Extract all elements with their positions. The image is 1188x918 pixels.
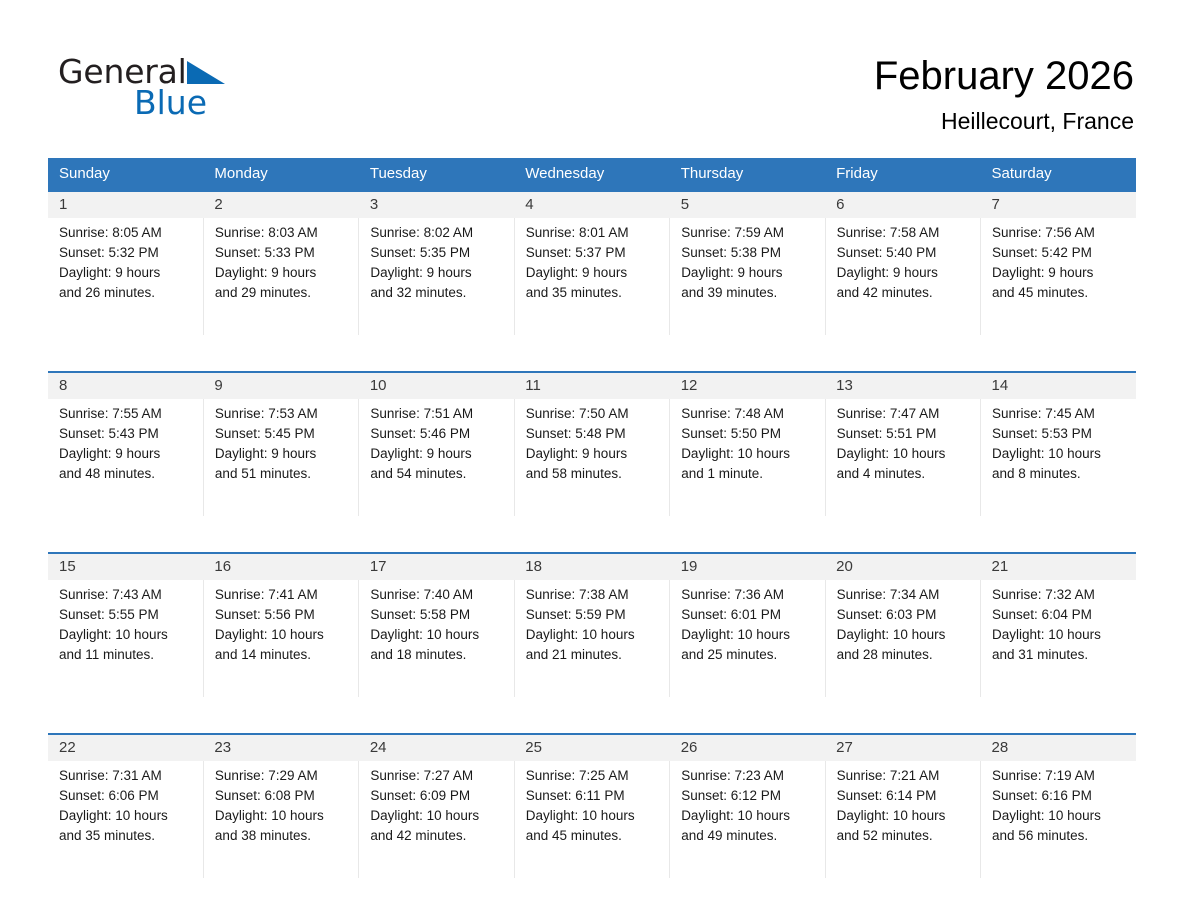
sunset-text: Sunset: 6:04 PM	[992, 605, 1128, 625]
sunrise-text: Sunrise: 7:34 AM	[837, 585, 972, 605]
sunrise-text: Sunrise: 7:51 AM	[370, 404, 505, 424]
sunrise-text: Sunrise: 7:21 AM	[837, 766, 972, 786]
weekday-header-wednesday: Wednesday	[514, 158, 669, 191]
sunrise-text: Sunrise: 7:38 AM	[526, 585, 661, 605]
day-number[interactable]: 16	[203, 553, 358, 580]
daylight-text-line2: and 45 minutes.	[992, 283, 1128, 303]
sunset-text: Sunset: 6:08 PM	[215, 786, 350, 806]
daylight-text-line1: Daylight: 10 hours	[59, 625, 195, 645]
daylight-text-line2: and 31 minutes.	[992, 645, 1128, 665]
day-cell[interactable]: Sunrise: 7:47 AM Sunset: 5:51 PM Dayligh…	[825, 399, 980, 516]
sunrise-text: Sunrise: 7:36 AM	[681, 585, 816, 605]
day-number[interactable]: 24	[359, 734, 514, 761]
sunrise-text: Sunrise: 7:48 AM	[681, 404, 816, 424]
sunset-text: Sunset: 5:51 PM	[837, 424, 972, 444]
daylight-text-line1: Daylight: 9 hours	[681, 263, 816, 283]
daylight-text-line2: and 48 minutes.	[59, 464, 195, 484]
calendar-page: General Blue February 2026 Heillecourt, …	[0, 0, 1188, 918]
daylight-text-line1: Daylight: 9 hours	[215, 263, 350, 283]
daylight-text-line2: and 42 minutes.	[837, 283, 972, 303]
sunset-text: Sunset: 5:45 PM	[215, 424, 350, 444]
day-number[interactable]: 3	[359, 191, 514, 218]
day-number[interactable]: 4	[514, 191, 669, 218]
day-cell[interactable]: Sunrise: 7:45 AM Sunset: 5:53 PM Dayligh…	[981, 399, 1136, 516]
day-cell[interactable]: Sunrise: 7:43 AM Sunset: 5:55 PM Dayligh…	[48, 580, 203, 697]
day-number[interactable]: 9	[203, 372, 358, 399]
day-number[interactable]: 18	[514, 553, 669, 580]
daylight-text-line1: Daylight: 10 hours	[992, 625, 1128, 645]
day-number[interactable]: 2	[203, 191, 358, 218]
day-number[interactable]: 27	[825, 734, 980, 761]
day-cell[interactable]: Sunrise: 8:05 AM Sunset: 5:32 PM Dayligh…	[48, 218, 203, 335]
sunset-text: Sunset: 5:43 PM	[59, 424, 195, 444]
sunset-text: Sunset: 5:38 PM	[681, 243, 816, 263]
sunset-text: Sunset: 5:46 PM	[370, 424, 505, 444]
day-number[interactable]: 7	[981, 191, 1136, 218]
daylight-text-line2: and 49 minutes.	[681, 826, 816, 846]
daylight-text-line2: and 35 minutes.	[526, 283, 661, 303]
week-1-daynumbers: 1 2 3 4 5 6 7	[48, 191, 1136, 218]
daylight-text-line1: Daylight: 9 hours	[370, 263, 505, 283]
weekday-header-sunday: Sunday	[48, 158, 203, 191]
day-cell[interactable]: Sunrise: 8:02 AM Sunset: 5:35 PM Dayligh…	[359, 218, 514, 335]
day-cell[interactable]: Sunrise: 7:50 AM Sunset: 5:48 PM Dayligh…	[514, 399, 669, 516]
daylight-text-line1: Daylight: 10 hours	[837, 625, 972, 645]
daylight-text-line2: and 35 minutes.	[59, 826, 195, 846]
day-cell[interactable]: Sunrise: 7:41 AM Sunset: 5:56 PM Dayligh…	[203, 580, 358, 697]
day-number[interactable]: 23	[203, 734, 358, 761]
daylight-text-line2: and 54 minutes.	[370, 464, 505, 484]
day-cell[interactable]: Sunrise: 7:58 AM Sunset: 5:40 PM Dayligh…	[825, 218, 980, 335]
daylight-text-line2: and 38 minutes.	[215, 826, 350, 846]
week-1-details: Sunrise: 8:05 AM Sunset: 5:32 PM Dayligh…	[48, 218, 1136, 335]
week-spacer	[48, 697, 1136, 734]
day-cell[interactable]: Sunrise: 7:25 AM Sunset: 6:11 PM Dayligh…	[514, 761, 669, 878]
daylight-text-line2: and 21 minutes.	[526, 645, 661, 665]
daylight-text-line1: Daylight: 10 hours	[370, 625, 505, 645]
sunset-text: Sunset: 6:01 PM	[681, 605, 816, 625]
daylight-text-line1: Daylight: 9 hours	[837, 263, 972, 283]
day-cell[interactable]: Sunrise: 7:36 AM Sunset: 6:01 PM Dayligh…	[670, 580, 825, 697]
daylight-text-line1: Daylight: 10 hours	[526, 625, 661, 645]
daylight-text-line2: and 1 minute.	[681, 464, 816, 484]
day-number[interactable]: 6	[825, 191, 980, 218]
daylight-text-line2: and 32 minutes.	[370, 283, 505, 303]
brand-triangle-icon	[187, 61, 225, 84]
daylight-text-line1: Daylight: 10 hours	[59, 806, 195, 826]
sunset-text: Sunset: 5:37 PM	[526, 243, 661, 263]
day-cell[interactable]: Sunrise: 7:59 AM Sunset: 5:38 PM Dayligh…	[670, 218, 825, 335]
daylight-text-line1: Daylight: 10 hours	[370, 806, 505, 826]
day-number[interactable]: 20	[825, 553, 980, 580]
week-4-details: Sunrise: 7:31 AM Sunset: 6:06 PM Dayligh…	[48, 761, 1136, 878]
daylight-text-line1: Daylight: 9 hours	[526, 444, 661, 464]
daylight-text-line2: and 58 minutes.	[526, 464, 661, 484]
week-spacer-cell	[48, 697, 1136, 734]
day-cell[interactable]: Sunrise: 7:19 AM Sunset: 6:16 PM Dayligh…	[981, 761, 1136, 878]
sunset-text: Sunset: 6:14 PM	[837, 786, 972, 806]
daylight-text-line2: and 52 minutes.	[837, 826, 972, 846]
daylight-text-line2: and 39 minutes.	[681, 283, 816, 303]
day-cell[interactable]: Sunrise: 7:31 AM Sunset: 6:06 PM Dayligh…	[48, 761, 203, 878]
sunset-text: Sunset: 6:06 PM	[59, 786, 195, 806]
daylight-text-line2: and 26 minutes.	[59, 283, 195, 303]
day-cell[interactable]: Sunrise: 7:21 AM Sunset: 6:14 PM Dayligh…	[825, 761, 980, 878]
calendar-header-row: Sunday Monday Tuesday Wednesday Thursday…	[48, 158, 1136, 191]
week-spacer-cell	[48, 516, 1136, 553]
day-number[interactable]: 19	[670, 553, 825, 580]
daylight-text-line1: Daylight: 10 hours	[681, 806, 816, 826]
sunrise-text: Sunrise: 7:40 AM	[370, 585, 505, 605]
sunset-text: Sunset: 5:55 PM	[59, 605, 195, 625]
day-cell[interactable]: Sunrise: 7:48 AM Sunset: 5:50 PM Dayligh…	[670, 399, 825, 516]
sunrise-text: Sunrise: 7:43 AM	[59, 585, 195, 605]
weekday-header-monday: Monday	[203, 158, 358, 191]
sunrise-text: Sunrise: 8:05 AM	[59, 223, 195, 243]
sunrise-text: Sunrise: 7:50 AM	[526, 404, 661, 424]
day-number[interactable]: 10	[359, 372, 514, 399]
daylight-text-line2: and 29 minutes.	[215, 283, 350, 303]
daylight-text-line1: Daylight: 10 hours	[215, 806, 350, 826]
sunset-text: Sunset: 6:03 PM	[837, 605, 972, 625]
daylight-text-line2: and 8 minutes.	[992, 464, 1128, 484]
day-cell[interactable]: Sunrise: 7:34 AM Sunset: 6:03 PM Dayligh…	[825, 580, 980, 697]
week-4-daynumbers: 22 23 24 25 26 27 28	[48, 734, 1136, 761]
sunrise-text: Sunrise: 7:53 AM	[215, 404, 350, 424]
week-spacer	[48, 335, 1136, 372]
sunrise-text: Sunrise: 7:58 AM	[837, 223, 972, 243]
day-number[interactable]: 8	[48, 372, 203, 399]
sunrise-text: Sunrise: 7:45 AM	[992, 404, 1128, 424]
daylight-text-line2: and 4 minutes.	[837, 464, 972, 484]
sunrise-text: Sunrise: 8:02 AM	[370, 223, 505, 243]
brand-logo[interactable]: General Blue	[58, 53, 318, 125]
sunrise-text: Sunrise: 7:27 AM	[370, 766, 505, 786]
sunset-text: Sunset: 5:59 PM	[526, 605, 661, 625]
daylight-text-line1: Daylight: 10 hours	[837, 444, 972, 464]
daylight-text-line2: and 11 minutes.	[59, 645, 195, 665]
week-3-details: Sunrise: 7:43 AM Sunset: 5:55 PM Dayligh…	[48, 580, 1136, 697]
sunrise-text: Sunrise: 7:23 AM	[681, 766, 816, 786]
day-cell[interactable]: Sunrise: 8:03 AM Sunset: 5:33 PM Dayligh…	[203, 218, 358, 335]
day-number[interactable]: 25	[514, 734, 669, 761]
sunset-text: Sunset: 5:35 PM	[370, 243, 505, 263]
sunset-text: Sunset: 5:42 PM	[992, 243, 1128, 263]
page-header: General Blue February 2026 Heillecourt, …	[0, 0, 1188, 150]
page-title: February 2026	[874, 52, 1134, 100]
sunrise-text: Sunrise: 7:29 AM	[215, 766, 350, 786]
sunrise-text: Sunrise: 7:32 AM	[992, 585, 1128, 605]
day-cell[interactable]: Sunrise: 7:55 AM Sunset: 5:43 PM Dayligh…	[48, 399, 203, 516]
daylight-text-line2: and 25 minutes.	[681, 645, 816, 665]
sunset-text: Sunset: 6:11 PM	[526, 786, 661, 806]
day-cell[interactable]: Sunrise: 7:32 AM Sunset: 6:04 PM Dayligh…	[981, 580, 1136, 697]
sunset-text: Sunset: 5:48 PM	[526, 424, 661, 444]
sunset-text: Sunset: 5:40 PM	[837, 243, 972, 263]
day-cell[interactable]: Sunrise: 7:51 AM Sunset: 5:46 PM Dayligh…	[359, 399, 514, 516]
sunset-text: Sunset: 5:56 PM	[215, 605, 350, 625]
calendar-body: 1 2 3 4 5 6 7 Sunrise: 8:05 AM Sunset: 5…	[48, 191, 1136, 878]
day-number[interactable]: 5	[670, 191, 825, 218]
day-cell[interactable]: Sunrise: 7:23 AM Sunset: 6:12 PM Dayligh…	[670, 761, 825, 878]
sunset-text: Sunset: 6:16 PM	[992, 786, 1128, 806]
daylight-text-line1: Daylight: 10 hours	[526, 806, 661, 826]
daylight-text-line1: Daylight: 10 hours	[837, 806, 972, 826]
sunrise-text: Sunrise: 7:31 AM	[59, 766, 195, 786]
daylight-text-line2: and 14 minutes.	[215, 645, 350, 665]
sunrise-sunset-calendar: Sunday Monday Tuesday Wednesday Thursday…	[48, 158, 1136, 878]
weekday-header-friday: Friday	[825, 158, 980, 191]
sunrise-text: Sunrise: 7:47 AM	[837, 404, 972, 424]
day-number[interactable]: 15	[48, 553, 203, 580]
day-cell[interactable]: Sunrise: 7:53 AM Sunset: 5:45 PM Dayligh…	[203, 399, 358, 516]
daylight-text-line1: Daylight: 10 hours	[992, 444, 1128, 464]
day-cell[interactable]: Sunrise: 7:40 AM Sunset: 5:58 PM Dayligh…	[359, 580, 514, 697]
daylight-text-line1: Daylight: 10 hours	[681, 444, 816, 464]
daylight-text-line1: Daylight: 9 hours	[526, 263, 661, 283]
week-2-details: Sunrise: 7:55 AM Sunset: 5:43 PM Dayligh…	[48, 399, 1136, 516]
daylight-text-line1: Daylight: 10 hours	[215, 625, 350, 645]
sunrise-text: Sunrise: 8:03 AM	[215, 223, 350, 243]
day-cell[interactable]: Sunrise: 8:01 AM Sunset: 5:37 PM Dayligh…	[514, 218, 669, 335]
daylight-text-line1: Daylight: 10 hours	[992, 806, 1128, 826]
sunset-text: Sunset: 6:09 PM	[370, 786, 505, 806]
week-spacer	[48, 516, 1136, 553]
day-cell[interactable]: Sunrise: 7:27 AM Sunset: 6:09 PM Dayligh…	[359, 761, 514, 878]
day-number[interactable]: 26	[670, 734, 825, 761]
daylight-text-line1: Daylight: 9 hours	[215, 444, 350, 464]
daylight-text-line1: Daylight: 9 hours	[59, 263, 195, 283]
sunset-text: Sunset: 6:12 PM	[681, 786, 816, 806]
sunrise-text: Sunrise: 8:01 AM	[526, 223, 661, 243]
daylight-text-line1: Daylight: 9 hours	[370, 444, 505, 464]
weekday-header-thursday: Thursday	[670, 158, 825, 191]
day-number[interactable]: 22	[48, 734, 203, 761]
sunset-text: Sunset: 5:50 PM	[681, 424, 816, 444]
daylight-text-line2: and 18 minutes.	[370, 645, 505, 665]
daylight-text-line1: Daylight: 10 hours	[681, 625, 816, 645]
day-number[interactable]: 21	[981, 553, 1136, 580]
day-cell[interactable]: Sunrise: 7:56 AM Sunset: 5:42 PM Dayligh…	[981, 218, 1136, 335]
sunset-text: Sunset: 5:53 PM	[992, 424, 1128, 444]
daylight-text-line1: Daylight: 9 hours	[992, 263, 1128, 283]
sunrise-text: Sunrise: 7:25 AM	[526, 766, 661, 786]
daylight-text-line2: and 56 minutes.	[992, 826, 1128, 846]
day-number[interactable]: 13	[825, 372, 980, 399]
week-3-daynumbers: 15 16 17 18 19 20 21	[48, 553, 1136, 580]
sunrise-text: Sunrise: 7:56 AM	[992, 223, 1128, 243]
title-block: February 2026 Heillecourt, France	[874, 52, 1134, 136]
sunset-text: Sunset: 5:32 PM	[59, 243, 195, 263]
daylight-text-line1: Daylight: 9 hours	[59, 444, 195, 464]
day-number[interactable]: 28	[981, 734, 1136, 761]
sunrise-text: Sunrise: 7:55 AM	[59, 404, 195, 424]
sunset-text: Sunset: 5:58 PM	[370, 605, 505, 625]
day-number[interactable]: 17	[359, 553, 514, 580]
week-2-daynumbers: 8 9 10 11 12 13 14	[48, 372, 1136, 399]
sunrise-text: Sunrise: 7:41 AM	[215, 585, 350, 605]
sunrise-text: Sunrise: 7:19 AM	[992, 766, 1128, 786]
day-number[interactable]: 12	[670, 372, 825, 399]
day-number[interactable]: 1	[48, 191, 203, 218]
daylight-text-line2: and 51 minutes.	[215, 464, 350, 484]
weekday-header-saturday: Saturday	[981, 158, 1136, 191]
week-spacer-cell	[48, 335, 1136, 372]
daylight-text-line2: and 28 minutes.	[837, 645, 972, 665]
daylight-text-line2: and 45 minutes.	[526, 826, 661, 846]
day-cell[interactable]: Sunrise: 7:38 AM Sunset: 5:59 PM Dayligh…	[514, 580, 669, 697]
sunset-text: Sunset: 5:33 PM	[215, 243, 350, 263]
day-number[interactable]: 14	[981, 372, 1136, 399]
day-cell[interactable]: Sunrise: 7:29 AM Sunset: 6:08 PM Dayligh…	[203, 761, 358, 878]
daylight-text-line2: and 42 minutes.	[370, 826, 505, 846]
day-number[interactable]: 11	[514, 372, 669, 399]
weekday-header-tuesday: Tuesday	[359, 158, 514, 191]
page-subtitle-location: Heillecourt, France	[874, 106, 1134, 136]
sunrise-text: Sunrise: 7:59 AM	[681, 223, 816, 243]
brand-name-blue: Blue	[134, 83, 207, 123]
